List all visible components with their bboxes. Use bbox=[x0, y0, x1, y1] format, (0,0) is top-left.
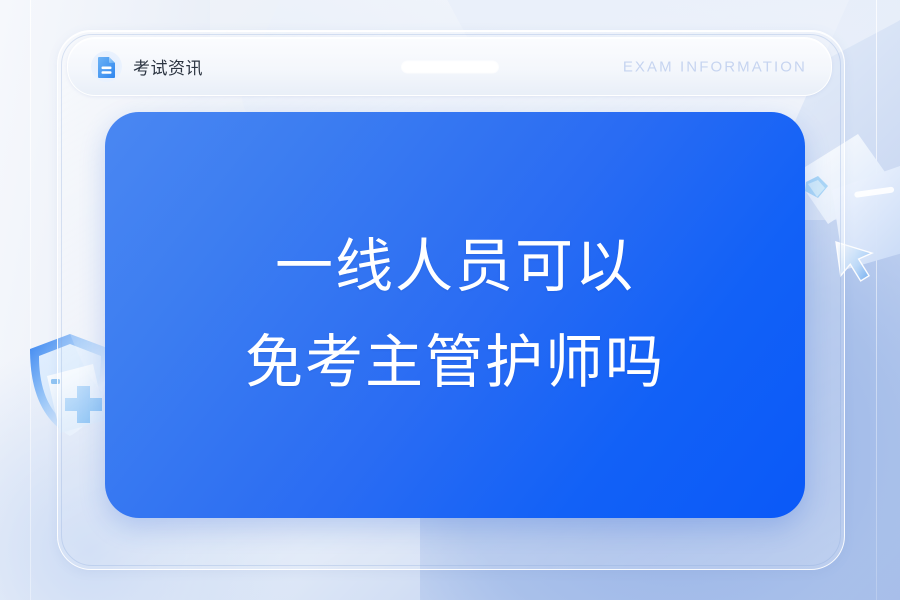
header-brand: 考试资讯 bbox=[91, 51, 203, 82]
background-rule-left bbox=[30, 0, 31, 600]
speaker-notch bbox=[402, 61, 498, 72]
card-headline-line-1: 一线人员可以 bbox=[275, 238, 635, 296]
header-title: 考试资讯 bbox=[133, 54, 203, 79]
header-subtitle-en: EXAM INFORMATION bbox=[623, 58, 807, 75]
card-headline-line-2: 免考主管护师吗 bbox=[245, 334, 665, 392]
document-icon bbox=[91, 51, 122, 82]
poster-canvas: 考试资讯 EXAM INFORMATION 一线人员可以 免考主管护师吗 bbox=[0, 0, 900, 600]
main-card: 一线人员可以 免考主管护师吗 bbox=[105, 112, 805, 518]
header-bar[interactable]: 考试资讯 EXAM INFORMATION bbox=[67, 37, 832, 96]
